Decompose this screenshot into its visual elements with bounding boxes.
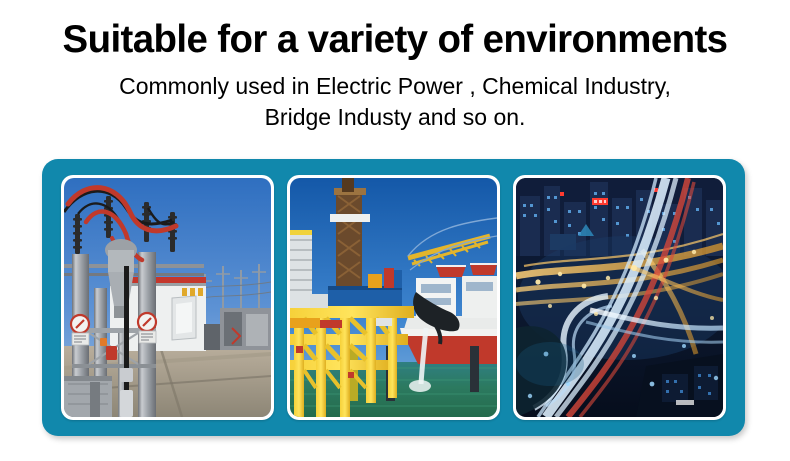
photo-frame-bridge-industry: [516, 178, 723, 417]
photo-frame-electric-power: [64, 178, 271, 417]
page-title: Suitable for a variety of environments: [6, 0, 784, 62]
heading-block: Suitable for a variety of environments C…: [0, 0, 790, 133]
photo-frame-chemical-industry: [290, 178, 497, 417]
page-subtitle: Commonly used in Electric Power , Chemic…: [0, 62, 790, 133]
subtitle-line-1: Commonly used in Electric Power , Chemic…: [0, 71, 790, 102]
photo-card-bridge-industry[interactable]: [513, 175, 726, 420]
subtitle-line-2: Bridge Industy and so on.: [0, 102, 790, 133]
offshore-platform-photo-icon: [290, 178, 497, 417]
photo-card-electric-power[interactable]: [61, 175, 274, 420]
substation-photo-icon: [64, 178, 271, 417]
photo-gallery-band: [42, 159, 745, 436]
photo-card-chemical-industry[interactable]: [287, 175, 500, 420]
night-interchange-photo-icon: [516, 178, 723, 417]
